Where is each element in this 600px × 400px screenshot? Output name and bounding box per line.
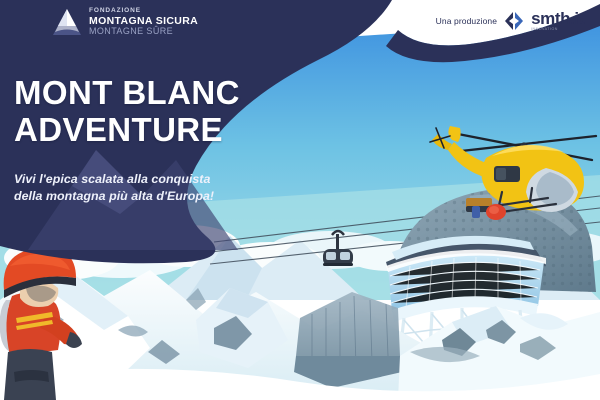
smth-arrows-icon	[504, 12, 524, 30]
brand-wordmark: FONDAZIONE MONTAGNA SICURA MONTAGNE SÛRE	[89, 8, 198, 37]
smth-wordmark: smth.it innovation	[531, 10, 584, 31]
brand-line-montagne-sure: MONTAGNE SÛRE	[89, 27, 198, 36]
subtitle-line-2: della montagna più alta d'Europa!	[14, 188, 272, 206]
title-line-1: MONT BLANC	[14, 74, 240, 111]
mountain-triangle-icon	[52, 8, 82, 36]
title-line-2: ADVENTURE	[14, 111, 314, 148]
hero-subtitle: Vivi l'epica scalata alla conquista dell…	[14, 171, 272, 206]
brand-line-fondazione: FONDAZIONE	[89, 8, 198, 15]
smth-subtitle: innovation	[531, 28, 584, 32]
producer-credit[interactable]: Una produzione smth.it innovation	[436, 10, 584, 31]
page-title: MONT BLANC ADVENTURE	[14, 74, 314, 149]
subtitle-line-1: Vivi l'epica scalata alla conquista	[14, 172, 210, 186]
banner-header: FONDAZIONE MONTAGNA SICURA MONTAGNE SÛRE…	[0, 0, 600, 46]
mont-blanc-adventure-banner: FONDAZIONE MONTAGNA SICURA MONTAGNE SÛRE…	[0, 0, 600, 400]
brand-line-montagna-sicura: MONTAGNA SICURA	[89, 16, 198, 27]
fondazione-montagna-sicura-logo[interactable]: FONDAZIONE MONTAGNA SICURA MONTAGNE SÛRE	[52, 8, 198, 37]
smth-name: smth.it	[531, 10, 584, 27]
hero-text-block: MONT BLANC ADVENTURE Vivi l'epica scalat…	[14, 74, 314, 206]
producer-label: Una produzione	[436, 16, 497, 26]
